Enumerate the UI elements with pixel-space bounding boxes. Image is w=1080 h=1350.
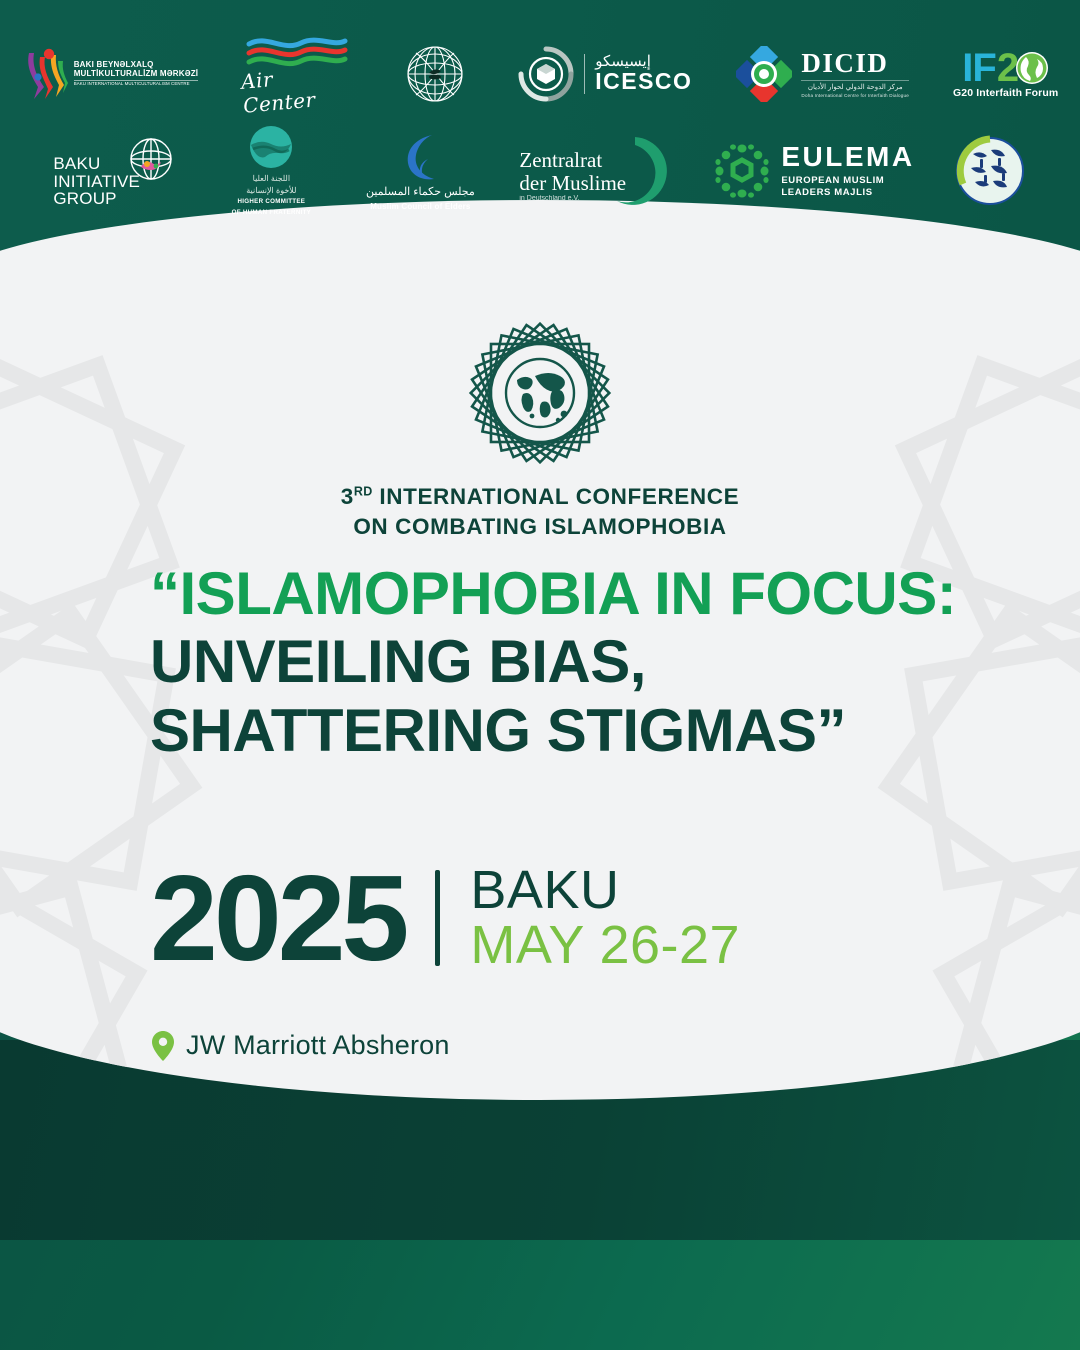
eulema-sub-2: LEADERS MAJLIS: [781, 187, 884, 199]
big-line-1: BAKU: [53, 155, 140, 173]
logo-oic-globe-icon: [396, 37, 474, 111]
air-center-wordmark: Air Center: [240, 60, 354, 117]
icesco-text-block: إيسيسكو ICESCO: [584, 54, 692, 94]
page-title: “ISLAMOPHOBIA IN FOCUS: UNVEILING BIAS, …: [150, 560, 1010, 765]
eulema-rosette-icon: [715, 144, 769, 198]
conference-name-line-2: ON COMBATING ISLAMOPHOBIA: [341, 512, 739, 542]
emblem-section: 3RD INTERNATIONAL CONFERENCE ON COMBATIN…: [0, 318, 1080, 541]
hchf-english-1: HIGHER COMMITTEE: [238, 198, 306, 206]
headline-line-2: UNVEILING BIAS,: [150, 628, 1010, 696]
logo-muslim-council-of-elders: مجلس حكماء المسلمين Muslim Council of El…: [361, 131, 479, 211]
multiculturalism-figure-icon: [22, 47, 68, 101]
location-pin-icon: [152, 1031, 174, 1061]
dicid-latin: DICID: [801, 50, 888, 77]
logo-baku-initiative-group: BAKU INITIATIVE GROUP: [53, 131, 181, 211]
dicid-text-block: DICID مركز الدوحة الدولي لحوار الأديان D…: [801, 50, 909, 98]
eulema-title: EULEMA: [781, 143, 914, 171]
bimc-line-2: MULTİKULTURALİZM MƏRKƏZİ: [74, 70, 199, 79]
big-line-2: INITIATIVE: [53, 173, 140, 191]
eulema-sub-1: EUROPEAN MUSLIM: [781, 175, 884, 187]
if20-globe-icon: [1015, 51, 1049, 85]
city-date-group: BAKU MAY 26-27: [470, 863, 740, 973]
event-venue: JW Marriott Absheron: [152, 1030, 450, 1061]
bimc-sub: BAKU INTERNATIONAL MULTICULTURALISM CENT…: [74, 80, 199, 87]
logo-baku-international-multiculturalism-centre: BAKI BEYNƏLXALQ MULTİKULTURALİZM MƏRKƏZİ…: [22, 47, 199, 101]
icesco-latin: ICESCO: [595, 69, 692, 94]
logo-eulema: EULEMA EUROPEAN MUSLIM LEADERS MAJLIS: [715, 143, 914, 199]
baku-initiative-text: BAKU INITIATIVE GROUP: [53, 155, 140, 208]
dicid-arabic: مركز الدوحة الدولي لحوار الأديان: [801, 80, 909, 91]
bimc-text-block: BAKI BEYNƏLXALQ MULTİKULTURALİZM MƏRKƏZİ…: [74, 61, 199, 88]
event-dates: MAY 26-27: [470, 918, 740, 973]
zdm-sub: in Deutschland e.V.: [519, 195, 626, 203]
logo-air-center: Air Center: [242, 35, 352, 113]
dicid-sub: Doha International Centre for Interfaith…: [801, 93, 909, 98]
if20-sub: G20 Interfaith Forum: [953, 87, 1058, 99]
eulema-text-block: EULEMA EUROPEAN MUSLIM LEADERS MAJLIS: [781, 143, 914, 199]
logo-higher-committee-human-fraternity: اللجنة العليا للأخوة الإنسانية HIGHER CO…: [219, 125, 323, 217]
conference-name: 3RD INTERNATIONAL CONFERENCE ON COMBATIN…: [341, 482, 739, 541]
hchf-arabic-1: اللجنة العليا: [253, 174, 290, 183]
if20-letters: IF: [962, 50, 996, 86]
sponsor-logo-row-2: BAKU INITIATIVE GROUP اللجنة العليا للأخ…: [0, 128, 1080, 214]
conference-ordinal-suffix: RD: [354, 485, 373, 499]
zdm-line-1: Zentralrat: [519, 149, 626, 172]
logo-zentralrat-der-muslime: Zentralrat der Muslime in Deutschland e.…: [517, 133, 677, 209]
event-city: BAKU: [470, 863, 740, 918]
logo-arabic-calligraphy-circle-icon: [953, 134, 1027, 208]
logo-if20: IF 2 G20 Interfaith Forum: [953, 50, 1058, 99]
sponsor-logo-row-1: BAKI BEYNƏLXALQ MULTİKULTURALİZM MƏRKƏZİ…: [0, 34, 1080, 114]
headline-line-1: “ISLAMOPHOBIA IN FOCUS:: [150, 560, 1010, 628]
conference-ordinal-number: 3: [341, 484, 354, 509]
sponsor-logo-bar: BAKI BEYNƏLXALQ MULTİKULTURALİZM MƏRKƏZİ…: [0, 0, 1080, 230]
conference-poster: BAKI BEYNƏLXALQ MULTİKULTURALİZM MƏRKƏZİ…: [0, 0, 1080, 1350]
logo-icesco: إيسيسكو ICESCO: [518, 46, 692, 102]
mce-english: Muslim Council of Elders: [370, 202, 470, 211]
crescent-icon: [398, 131, 442, 183]
date-divider: [435, 870, 440, 966]
dicid-mark-icon: [736, 46, 792, 102]
mce-arabic: مجلس حكماء المسلمين: [366, 187, 475, 198]
human-fraternity-handshake-icon: [245, 125, 297, 171]
islamophobia-conference-emblem-icon: [465, 318, 615, 468]
event-date-block: 2025 BAKU MAY 26-27: [150, 862, 740, 974]
eulema-sub: EUROPEAN MUSLIM LEADERS MAJLIS: [781, 175, 884, 199]
big-line-3: GROUP: [53, 190, 140, 208]
logo-dicid: DICID مركز الدوحة الدولي لحوار الأديان D…: [736, 46, 909, 102]
conference-line-1-rest: INTERNATIONAL CONFERENCE: [373, 484, 740, 509]
zdm-text-block: Zentralrat der Muslime in Deutschland e.…: [519, 149, 626, 203]
if20-mark: IF 2: [962, 50, 1049, 86]
event-year: 2025: [150, 862, 405, 974]
venue-name: JW Marriott Absheron: [186, 1030, 450, 1061]
hchf-arabic-2: للأخوة الإنسانية: [246, 186, 296, 195]
zdm-line-2: der Muslime: [519, 172, 626, 195]
headline-line-3: SHATTERING STIGMAS”: [150, 697, 1010, 765]
icesco-arabic: إيسيسكو: [595, 54, 651, 69]
icesco-mark-icon: [518, 46, 574, 102]
hchf-english-2: OF HUMAN FRATERNITY: [232, 209, 311, 217]
conference-name-line-1: 3RD INTERNATIONAL CONFERENCE: [341, 482, 739, 512]
